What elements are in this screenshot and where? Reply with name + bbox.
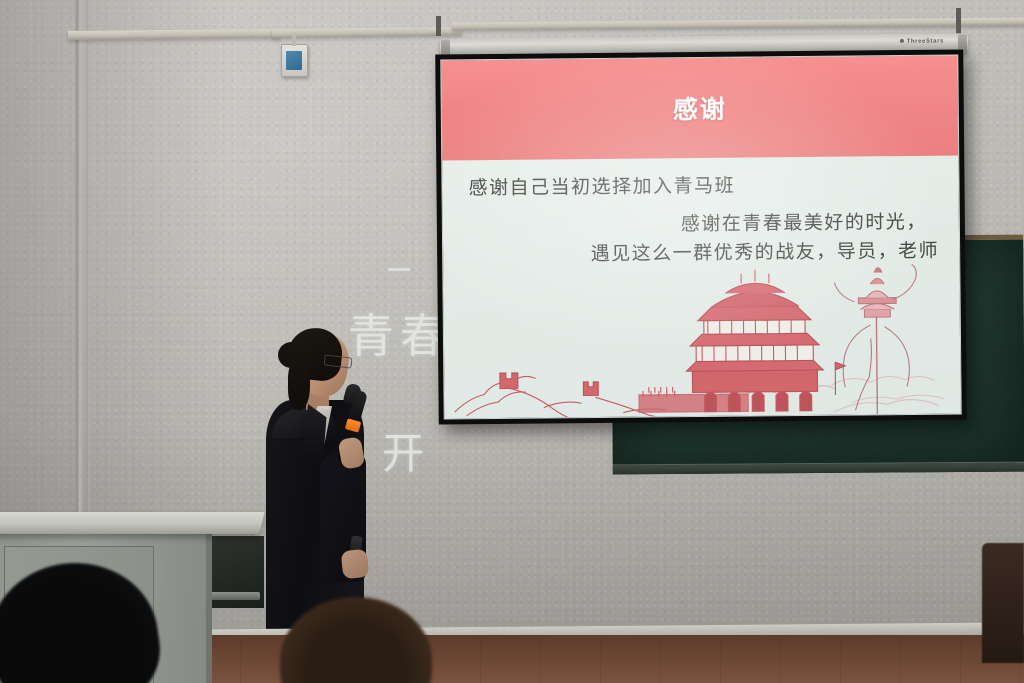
ceiling-rail-left: [68, 29, 280, 40]
great-wall-tiananmen-illustration: [443, 249, 961, 419]
chair-back: [982, 543, 1024, 663]
slide-title-banner: 感谢: [441, 56, 958, 161]
projection-screen[interactable]: 感谢 感谢自己当初选择加入青马班 感谢在青春最美好的时光， 遇见这么一群优秀的战…: [435, 49, 967, 424]
slide-title: 感谢: [673, 90, 727, 127]
wall-mounted-sensor-box[interactable]: [281, 44, 308, 77]
presenter-hair-side: [288, 358, 310, 410]
sensor-box-panel-icon: [286, 51, 302, 70]
slide-body: 感谢自己当初选择加入青马班 感谢在青春最美好的时光， 遇见这么一群优秀的战友，导…: [442, 156, 959, 271]
slide-body-line-3: 遇见这么一群优秀的战友，导员，老师: [465, 237, 939, 271]
lectern-drawer-rail: [210, 592, 260, 600]
lectern-worktop: [0, 512, 265, 534]
screen-mount-bracket-left: [436, 16, 441, 36]
presentation-slide: 感谢 感谢自己当初选择加入青马班 感谢在青春最美好的时光， 遇见这么一群优秀的战…: [441, 56, 960, 419]
wall-pillar-seam-secondary: [86, 0, 91, 560]
sensor-box-stem: [292, 33, 296, 46]
chalk-dash-stroke: [388, 268, 410, 271]
classroom-scene: 青春 开 ThreeStars 感谢 感谢自己当初选择加入青马班 感谢在青春最美…: [0, 0, 1024, 683]
roller-brand-label: ThreeStars: [900, 38, 944, 44]
presenter-hand-lower: [341, 549, 370, 580]
slide-body-line-1: 感谢自己当初选择加入青马班: [468, 170, 938, 204]
wall-pillar-seam: [74, 0, 84, 560]
screen-mount-bracket-right: [956, 8, 961, 34]
slide-body-line-2: 感谢在青春最美好的时光，: [465, 208, 927, 242]
